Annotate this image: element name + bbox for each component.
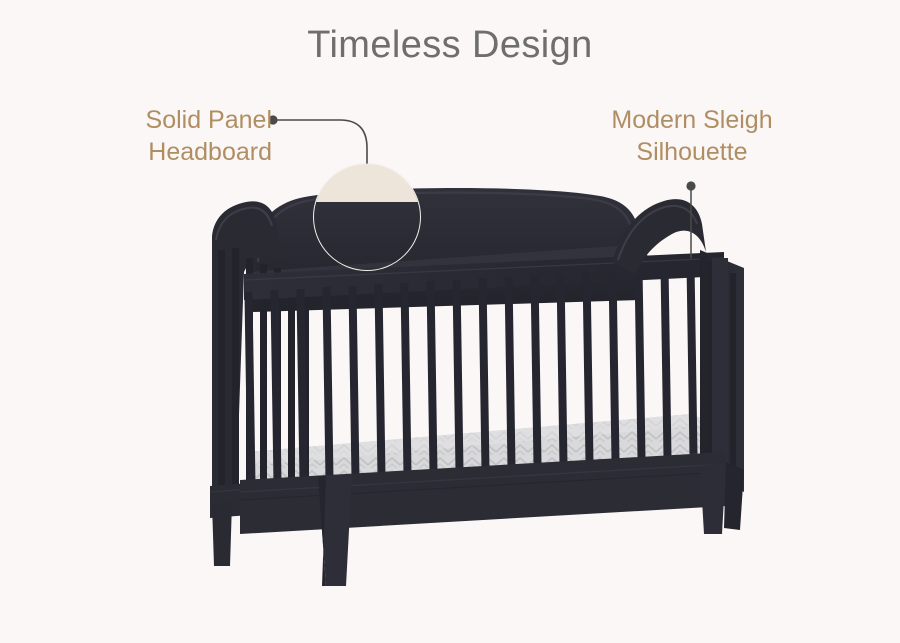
infographic-canvas: Timeless Design Solid Panel Headboard Mo… (0, 0, 900, 643)
crib-illustration (0, 0, 900, 643)
page-title: Timeless Design (0, 24, 900, 67)
annotation-label-solid-panel-headboard: Solid Panel Headboard (24, 104, 272, 168)
annotation-label-modern-sleigh-silhouette: Modern Sleigh Silhouette (578, 104, 806, 168)
